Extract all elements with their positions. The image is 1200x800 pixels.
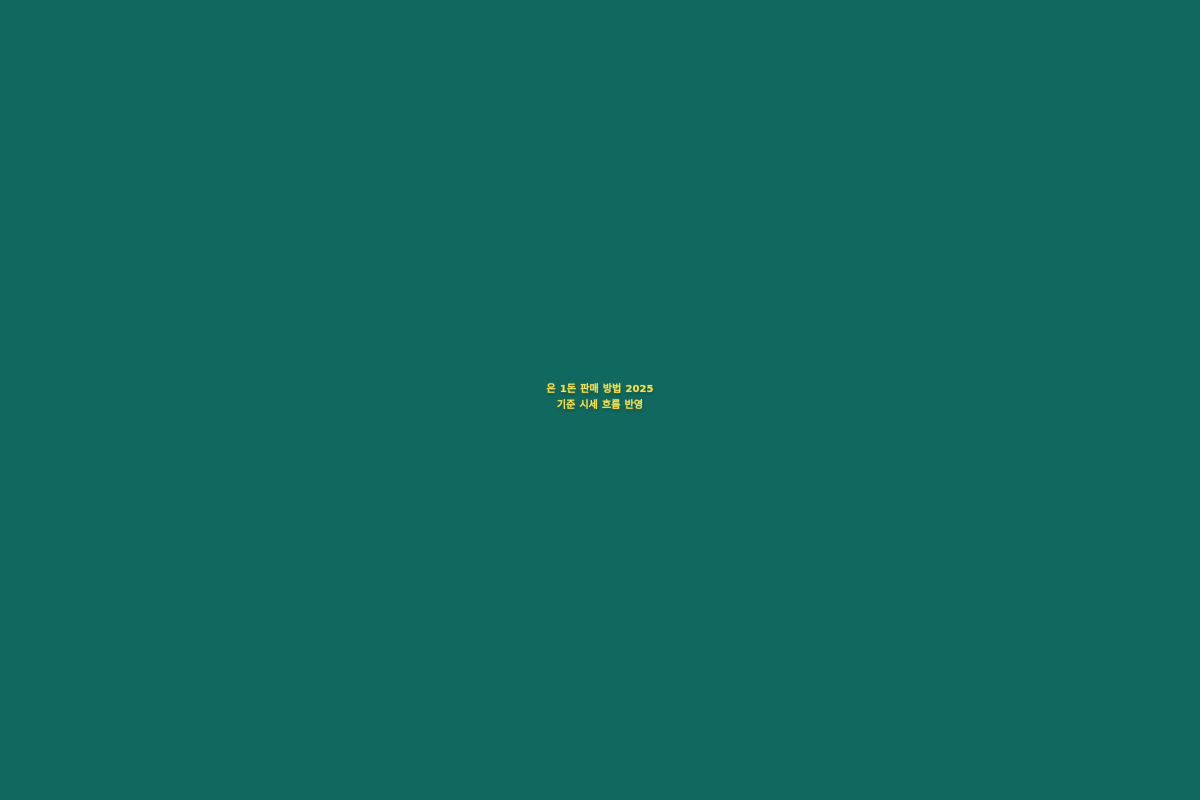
headline-block: 은 1돈 판매 방법 2025 기준 시세 흐름 반영 — [0, 383, 1200, 413]
headline-line-1: 은 1돈 판매 방법 2025 — [40, 383, 1160, 397]
thumbnail-banner: 은 1돈 판매 방법 2025 기준 시세 흐름 반영 — [0, 0, 1200, 800]
headline-line-2: 기준 시세 흐름 반영 — [40, 399, 1160, 413]
